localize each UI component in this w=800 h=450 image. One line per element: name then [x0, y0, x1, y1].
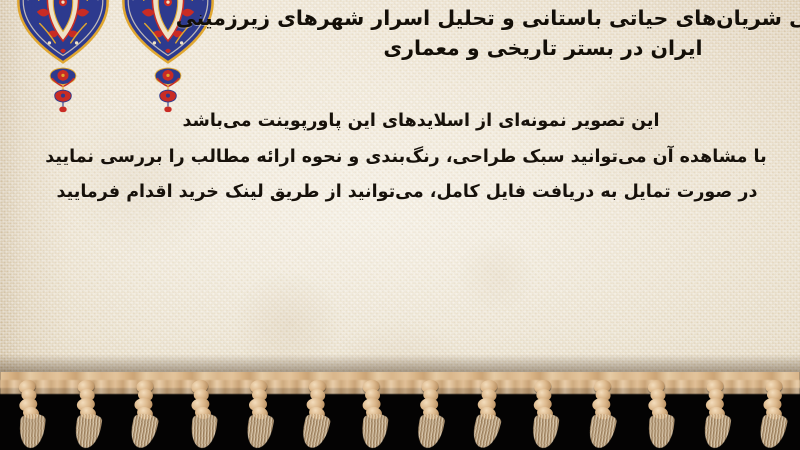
tassel-skirt [647, 414, 675, 448]
tassel-skirt [73, 413, 103, 449]
slide-body-line-2: با مشاهده آن می‌توانید سبک طراحی، رنگ‌بن… [18, 144, 788, 171]
fringe-tassel [186, 377, 217, 449]
fringe-tassel [587, 378, 615, 449]
powerpoint-slide-preview: سی شریان‌های حیاتی باستانی و تحلیل اسرار… [0, 0, 800, 450]
fringe-tassel [417, 378, 444, 448]
slide-title-line-2: ایران در بستر تاریخی و معماری [192, 34, 800, 64]
tassel-skirt [128, 412, 160, 449]
slide-body-line-3: در صورت تمایل به دریافت فایل کامل، می‌تو… [18, 179, 788, 206]
fringe-tassel [758, 377, 788, 448]
fringe-tassel [246, 378, 272, 448]
tassel-skirt [586, 413, 618, 450]
tassel-skirt [18, 414, 46, 448]
tassel-skirt [189, 414, 218, 449]
tassel-skirt [470, 412, 503, 450]
tassel-skirt [415, 413, 446, 450]
slide-body-text: این تصویر نمونه‌ای از اسلایدهای این پاور… [18, 108, 788, 215]
slide-title-line-1: سی شریان‌های حیاتی باستانی و تحلیل اسرار… [192, 4, 800, 34]
carpet-fringe-border [0, 372, 800, 450]
fringe-tassel [702, 378, 729, 448]
fringe-tassel [358, 377, 388, 448]
fringe-tassel [530, 378, 558, 449]
fringe-tassel [130, 377, 160, 448]
fringe-tassel [300, 377, 331, 449]
slide-title: سی شریان‌های حیاتی باستانی و تحلیل اسرار… [192, 4, 792, 63]
fringe-tassel [471, 377, 503, 449]
tassel-skirt [531, 413, 561, 448]
slide-body-line-1: این تصویر نمونه‌ای از اسلایدهای این پاور… [18, 108, 788, 135]
tassel-skirt [756, 412, 788, 449]
tassel-skirt [360, 413, 389, 448]
fringe-tassel [643, 377, 675, 449]
tassel-skirt [244, 413, 275, 449]
fringe-cord [0, 380, 800, 394]
fringe-upper-shadow [0, 354, 800, 372]
tassel-skirt [702, 413, 732, 449]
fringe-tassel [74, 378, 101, 448]
tassel-skirt [299, 412, 332, 449]
